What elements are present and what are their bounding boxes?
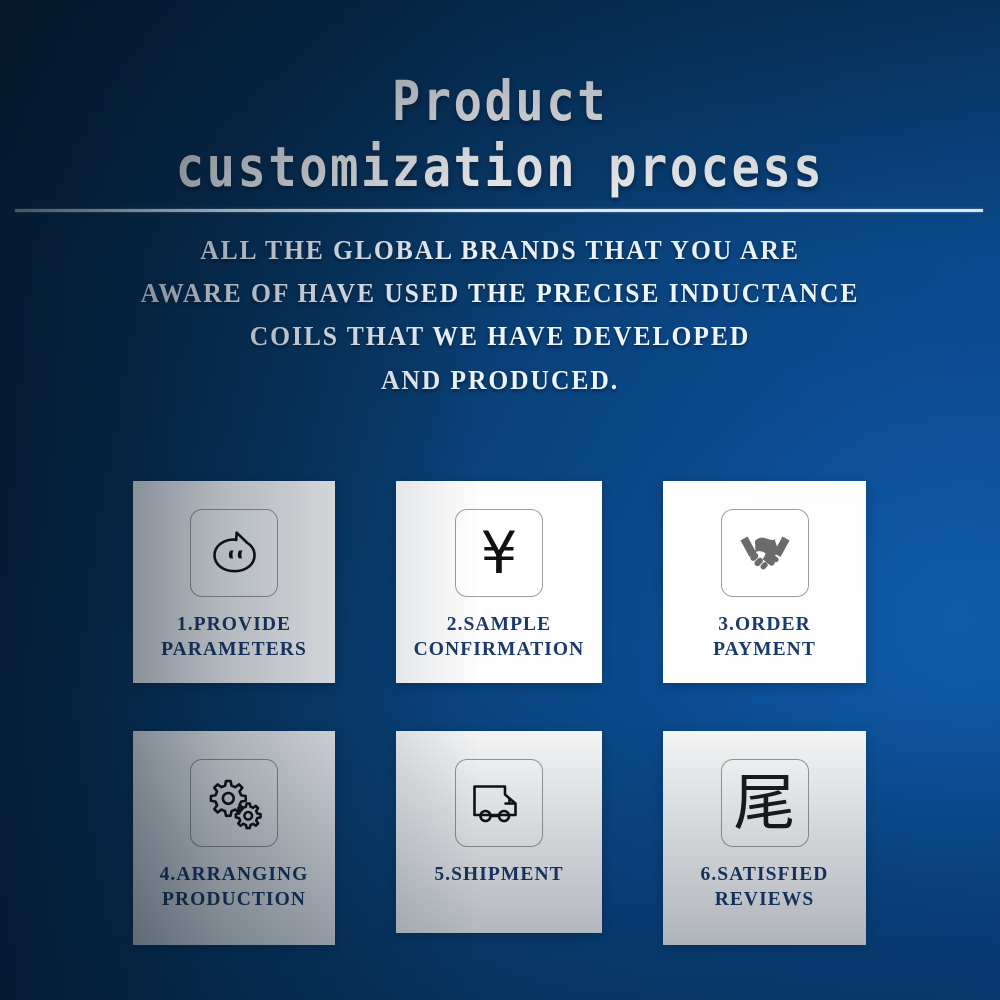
poster-canvas: Product customization process ALL THE GL… (0, 0, 1000, 1000)
step-4-label: 4.ARRANGING PRODUCTION (154, 863, 315, 913)
step-card-2-sample-confirmation[interactable]: ¥ 2.SAMPLE CONFIRMATION (396, 481, 602, 683)
gears-icon (204, 775, 264, 831)
step-6-label: 6.SATISFIED REVIEWS (695, 863, 835, 913)
step-card-5-shipment[interactable]: 5.SHIPMENT (396, 731, 602, 933)
step-1-label: 1.PROVIDE PARAMETERS (155, 613, 313, 663)
step-2-label: 2.SAMPLE CONFIRMATION (408, 613, 591, 663)
step-1-icon-frame (190, 509, 278, 597)
step-3-icon-frame (721, 509, 809, 597)
yen-currency-icon: ¥ (481, 524, 518, 582)
step-card-6-satisfied-reviews[interactable]: 尾 6.SATISFIED REVIEWS (663, 731, 866, 945)
speech-bubble-quote-icon (205, 524, 263, 582)
handshake-icon (735, 526, 795, 580)
step-5-label: 5.SHIPMENT (428, 863, 569, 888)
step-card-1-provide-parameters[interactable]: 1.PROVIDE PARAMETERS (133, 481, 335, 683)
process-steps-grid: 1.PROVIDE PARAMETERS ¥ 2.SAMPLE CONFIRMA… (0, 0, 1000, 1000)
delivery-truck-icon (469, 778, 529, 828)
step-4-icon-frame (190, 759, 278, 847)
step-2-icon-frame: ¥ (455, 509, 543, 597)
step-6-icon-frame: 尾 (721, 759, 809, 847)
cjk-character-wei-icon: 尾 (733, 772, 795, 834)
step-card-4-arranging-production[interactable]: 4.ARRANGING PRODUCTION (133, 731, 335, 945)
step-card-3-order-payment[interactable]: 3.ORDER PAYMENT (663, 481, 866, 683)
step-5-icon-frame (455, 759, 543, 847)
step-3-label: 3.ORDER PAYMENT (707, 613, 822, 663)
